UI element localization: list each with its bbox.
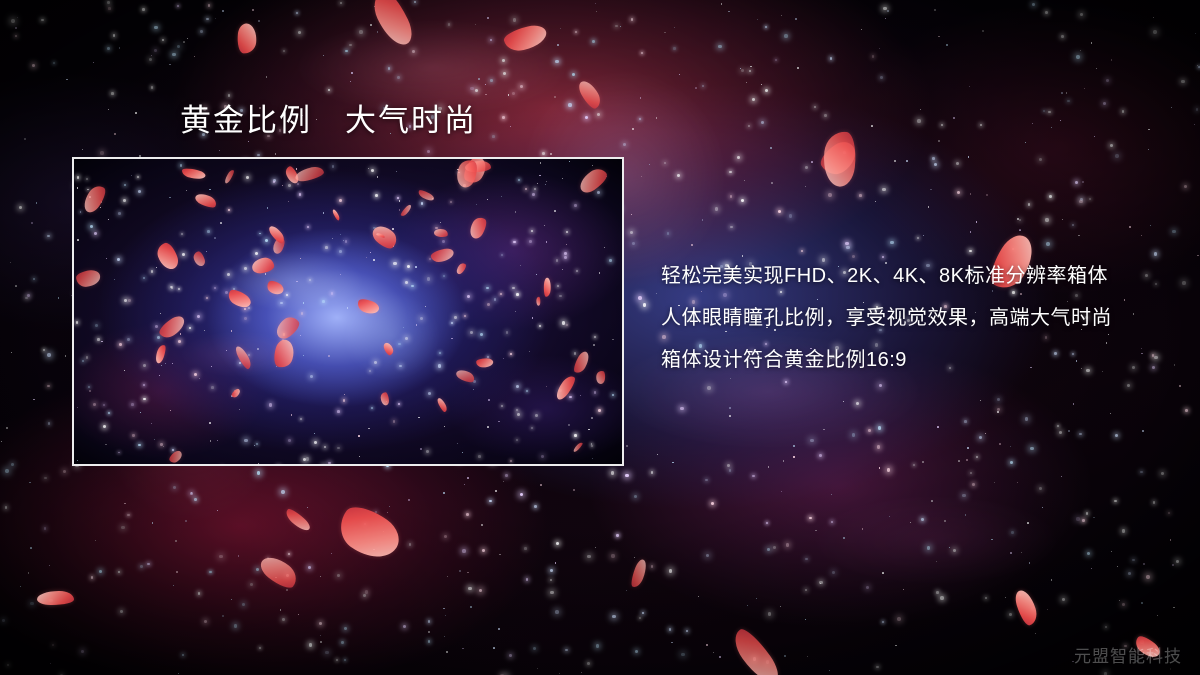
petal [815,137,861,180]
petal [367,0,417,51]
petal [236,22,258,54]
petal [37,591,74,606]
petal [283,507,312,534]
inset-wisp-layer [74,159,622,464]
presentation-slide: 黄金比例 大气时尚 轻松完美实现FHD、2K、4K、8K标准分辨率箱体 人体眼睛… [0,0,1200,675]
body-text-block: 轻松完美实现FHD、2K、4K、8K标准分辨率箱体 人体眼睛瞳孔比例，享受视觉效… [661,255,1181,381]
petal [502,23,549,54]
page-title: 黄金比例 大气时尚 [180,101,477,141]
petal [1012,588,1040,628]
framed-inset-image [72,157,624,466]
petal [576,77,604,110]
petal [821,129,859,187]
petal [630,558,650,588]
watermark-label: 元盟智能科技 [1074,642,1182,667]
petal [256,551,301,593]
petal [331,498,406,569]
petal [729,625,784,675]
body-line-1: 轻松完美实现FHD、2K、4K、8K标准分辨率箱体 [661,255,1181,297]
body-line-2: 人体眼睛瞳孔比例，享受视觉效果，高端大气时尚 [661,297,1181,339]
body-line-3: 箱体设计符合黄金比例16:9 [661,339,1181,381]
